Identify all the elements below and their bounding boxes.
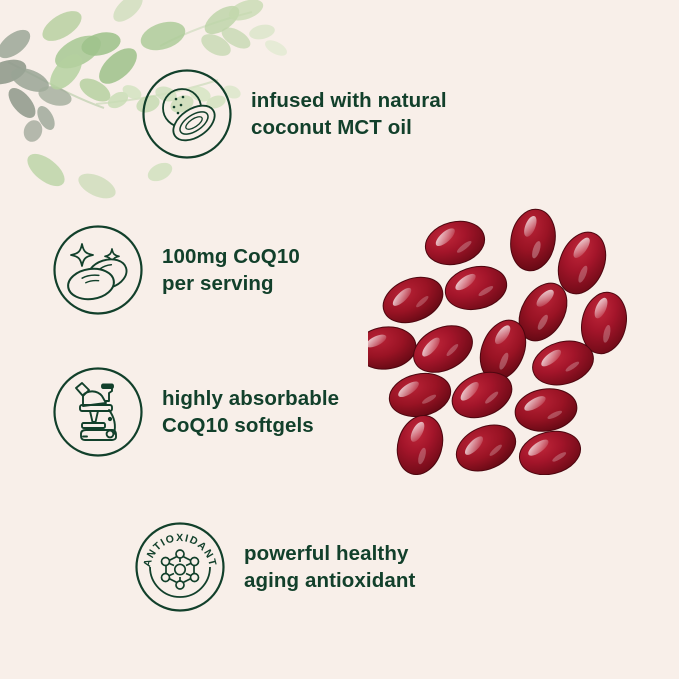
coq10-softgel-capsules-image (368, 205, 648, 475)
coconut-icon (141, 68, 233, 160)
feature-item-absorbable-softgels: highly absorbable CoQ10 softgels (52, 366, 339, 458)
feature-item-coconut-mct-oil: infused with natural coconut MCT oil (141, 68, 447, 160)
product-infographic: infused with natural coconut MCT oil (0, 0, 679, 679)
feature-item-antioxidant: ANTIOXIDANT powerful healthy aging antio… (134, 521, 415, 613)
feature-label-antioxidant: powerful healthy aging antioxidant (244, 540, 415, 594)
antioxidant-badge-icon: ANTIOXIDANT (134, 521, 226, 613)
feature-label-coq10-dose: 100mg CoQ10 per serving (162, 243, 300, 297)
feature-label-coconut-mct-oil: infused with natural coconut MCT oil (251, 87, 447, 141)
feature-item-coq10-dose: 100mg CoQ10 per serving (52, 224, 300, 316)
softgel-sparkle-icon (52, 224, 144, 316)
microscope-icon (52, 366, 144, 458)
feature-label-absorbable-softgels: highly absorbable CoQ10 softgels (162, 385, 339, 439)
